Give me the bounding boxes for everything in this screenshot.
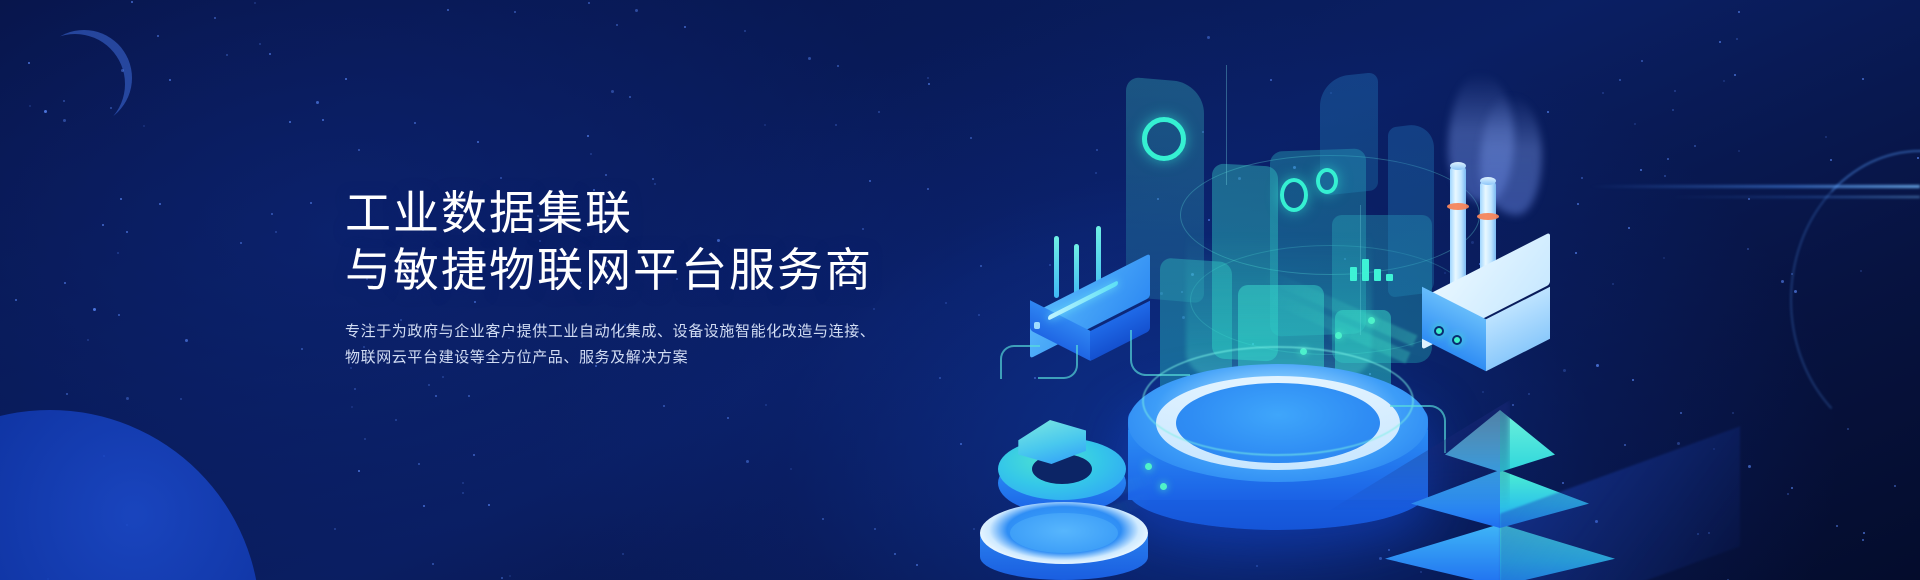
subcopy-line-1: 专注于为政府与企业客户提供工业自动化集成、设备设施智能化改造与连接、 bbox=[345, 319, 875, 345]
star bbox=[927, 188, 929, 190]
router-antenna-3 bbox=[1096, 226, 1101, 302]
holo-panel-7 bbox=[1332, 215, 1432, 363]
star bbox=[240, 242, 242, 244]
star bbox=[1157, 198, 1159, 200]
star bbox=[1863, 532, 1865, 534]
pyramid-tier-2-right bbox=[1500, 470, 1589, 528]
star bbox=[1748, 198, 1750, 200]
platform-halo bbox=[1142, 346, 1414, 456]
star bbox=[1340, 469, 1343, 472]
star bbox=[1264, 432, 1266, 434]
star bbox=[1444, 272, 1446, 274]
star bbox=[254, 2, 256, 4]
star bbox=[611, 90, 614, 93]
star bbox=[1632, 379, 1634, 381]
star bbox=[973, 528, 975, 530]
zigzag-wire-2 bbox=[1038, 345, 1078, 379]
star bbox=[1894, 485, 1896, 487]
star bbox=[1713, 448, 1715, 450]
star bbox=[1581, 177, 1583, 179]
star bbox=[1836, 525, 1838, 527]
smokestack-left bbox=[1450, 167, 1466, 301]
star bbox=[835, 124, 837, 126]
star bbox=[1748, 465, 1751, 468]
star bbox=[289, 121, 291, 123]
star bbox=[1862, 539, 1864, 541]
star bbox=[1825, 136, 1827, 138]
router-antenna-1 bbox=[1054, 236, 1059, 298]
data-beam-left-1 bbox=[993, 470, 1157, 539]
star bbox=[808, 57, 811, 60]
star bbox=[29, 105, 31, 107]
pyramid-tier-1-right bbox=[1500, 410, 1555, 472]
beam-dot-4 bbox=[1145, 463, 1152, 470]
star bbox=[605, 174, 607, 176]
holo-panel-2 bbox=[1160, 257, 1232, 427]
star bbox=[169, 79, 171, 81]
hero-banner: 工业数据集联 与敏捷物联网平台服务商 专注于为政府与企业客户提供工业自动化集成、… bbox=[0, 0, 1920, 580]
star bbox=[1694, 145, 1696, 147]
star bbox=[1663, 257, 1665, 259]
star bbox=[1202, 131, 1204, 133]
star bbox=[1049, 264, 1051, 266]
star bbox=[1482, 391, 1484, 393]
star bbox=[358, 470, 360, 472]
star bbox=[1734, 74, 1736, 76]
star bbox=[102, 224, 104, 226]
star bbox=[1612, 283, 1614, 285]
pad-inner bbox=[1010, 513, 1118, 553]
router-cable bbox=[1130, 330, 1190, 376]
platform-body bbox=[1128, 380, 1428, 530]
router-top-face bbox=[1030, 253, 1150, 358]
star bbox=[1261, 374, 1263, 376]
star bbox=[1095, 172, 1097, 174]
star bbox=[1344, 258, 1346, 260]
factory-box-left bbox=[1422, 287, 1486, 372]
star bbox=[1847, 428, 1849, 430]
star bbox=[1667, 158, 1669, 160]
star bbox=[790, 468, 792, 470]
beam-dot-6 bbox=[1070, 490, 1077, 497]
star bbox=[1512, 404, 1514, 406]
data-beam-factory-2 bbox=[1269, 292, 1411, 364]
platform-ring-inner bbox=[1176, 383, 1380, 463]
smokestack-right-cap bbox=[1480, 177, 1496, 185]
pyramid-tier-3-left bbox=[1385, 524, 1500, 580]
bar-chart-glyph bbox=[1350, 255, 1393, 281]
headline-line-2: 与敏捷物联网平台服务商 bbox=[345, 242, 875, 299]
star bbox=[1207, 36, 1210, 39]
star bbox=[869, 180, 871, 182]
star bbox=[1595, 520, 1598, 523]
donut-base bbox=[998, 452, 1126, 514]
star bbox=[927, 77, 929, 79]
router-antenna-2 bbox=[1074, 244, 1079, 300]
star bbox=[473, 454, 475, 456]
star bbox=[509, 575, 511, 577]
star bbox=[652, 178, 654, 180]
star bbox=[1719, 41, 1721, 43]
ring-icon-large bbox=[1142, 117, 1186, 161]
hero-copy: 工业数据集联 与敏捷物联网平台服务商 专注于为政府与企业客户提供工业自动化集成、… bbox=[345, 185, 875, 371]
smokestack-left-band bbox=[1447, 203, 1469, 210]
star bbox=[1369, 373, 1371, 375]
pyramid-floor-shadow bbox=[1330, 400, 1510, 510]
star bbox=[1528, 393, 1530, 395]
star bbox=[1238, 177, 1241, 180]
star bbox=[395, 419, 397, 421]
star bbox=[435, 395, 437, 397]
star bbox=[87, 339, 89, 341]
star-field bbox=[0, 0, 1920, 580]
star bbox=[1548, 247, 1550, 249]
star bbox=[214, 17, 216, 19]
holo-line-1 bbox=[1226, 65, 1227, 185]
smokestack-right-band bbox=[1477, 213, 1499, 220]
star bbox=[117, 252, 119, 254]
star bbox=[514, 11, 516, 13]
star bbox=[1641, 60, 1643, 62]
star bbox=[874, 528, 876, 530]
star bbox=[939, 377, 941, 379]
holo-panel-6 bbox=[1320, 72, 1378, 196]
star bbox=[590, 153, 592, 155]
star bbox=[322, 119, 324, 121]
star bbox=[684, 26, 686, 28]
router-front-face bbox=[1030, 300, 1092, 362]
star bbox=[878, 111, 880, 113]
star bbox=[1830, 159, 1832, 161]
star bbox=[1674, 90, 1676, 92]
star bbox=[462, 492, 464, 494]
star bbox=[1055, 565, 1057, 567]
star bbox=[1471, 241, 1474, 244]
star bbox=[358, 149, 360, 151]
layered-pyramid bbox=[1385, 398, 1615, 580]
smokestack-left-cap bbox=[1450, 162, 1466, 170]
star bbox=[44, 110, 47, 113]
factory-block bbox=[1400, 85, 1620, 365]
star bbox=[1791, 487, 1793, 489]
star bbox=[143, 125, 145, 127]
star bbox=[765, 404, 767, 406]
factory-box-right bbox=[1486, 287, 1550, 372]
star bbox=[1191, 273, 1194, 276]
star bbox=[1862, 78, 1864, 80]
donut-top bbox=[998, 438, 1126, 500]
hero-illustration bbox=[0, 0, 1920, 580]
star bbox=[980, 265, 982, 267]
star bbox=[588, 2, 590, 4]
star bbox=[945, 302, 947, 304]
holo-panel-5 bbox=[1270, 148, 1366, 336]
pyramid-tier-2-left bbox=[1411, 470, 1500, 528]
crescent-moon-icon bbox=[36, 30, 132, 126]
donut-hole bbox=[1032, 454, 1092, 484]
star bbox=[1141, 282, 1143, 284]
router-device bbox=[1020, 230, 1200, 360]
star bbox=[1207, 450, 1209, 452]
star bbox=[1577, 203, 1579, 205]
donut-slice bbox=[1014, 420, 1086, 464]
star bbox=[1529, 249, 1531, 251]
zigzag-wire-1 bbox=[1000, 345, 1040, 379]
star bbox=[1045, 459, 1047, 461]
star bbox=[1747, 248, 1749, 250]
star bbox=[118, 314, 120, 316]
star bbox=[1161, 457, 1163, 459]
smokestack-right bbox=[1480, 182, 1496, 310]
star bbox=[1596, 364, 1599, 367]
star bbox=[1252, 343, 1254, 345]
planet-arc bbox=[0, 410, 260, 580]
star bbox=[1181, 291, 1183, 293]
router-side-face bbox=[1090, 301, 1150, 362]
star bbox=[1697, 533, 1699, 535]
data-beam-factory bbox=[1262, 268, 1418, 346]
circular-pad bbox=[980, 498, 1148, 580]
platform-top bbox=[1128, 364, 1428, 482]
holo-ring-back bbox=[1180, 155, 1480, 275]
factory-box-top bbox=[1422, 232, 1550, 349]
star bbox=[1170, 397, 1172, 399]
star bbox=[131, 1, 133, 3]
star bbox=[310, 202, 312, 204]
star bbox=[442, 376, 444, 378]
star bbox=[1293, 166, 1296, 169]
star bbox=[1672, 109, 1674, 111]
star bbox=[1787, 493, 1789, 495]
star bbox=[364, 438, 366, 440]
subcopy-line-2: 物联网云平台建设等全方位产品、服务及解决方案 bbox=[345, 345, 875, 371]
star bbox=[746, 460, 749, 463]
factory-port-2 bbox=[1452, 335, 1462, 345]
star bbox=[477, 141, 479, 143]
smoke-plume-right bbox=[1480, 95, 1542, 215]
beam-dot-3 bbox=[1368, 317, 1375, 324]
star bbox=[180, 398, 182, 400]
star bbox=[1208, 219, 1210, 221]
star bbox=[1640, 169, 1642, 171]
star bbox=[1723, 80, 1725, 82]
star bbox=[1479, 263, 1481, 265]
smoke-plume-left bbox=[1448, 73, 1514, 203]
holo-line-2 bbox=[1360, 205, 1361, 335]
star bbox=[1547, 111, 1549, 113]
star bbox=[663, 405, 665, 407]
pad-body bbox=[980, 512, 1148, 580]
star bbox=[635, 9, 638, 12]
star bbox=[447, 9, 449, 11]
holo-panel-3 bbox=[1212, 163, 1278, 361]
ring-icon-small-right bbox=[1316, 168, 1338, 194]
holographic-data-cylinder bbox=[1120, 55, 1540, 385]
platform-side bbox=[1128, 430, 1428, 500]
beam-dot-2 bbox=[1335, 332, 1342, 339]
holo-panel-4 bbox=[1238, 285, 1324, 415]
pyramid-tier-1-left bbox=[1445, 410, 1500, 472]
star bbox=[1256, 565, 1258, 567]
pyramid-cable bbox=[1390, 405, 1446, 453]
star bbox=[423, 505, 425, 507]
star bbox=[432, 563, 434, 565]
donut-chart bbox=[998, 408, 1128, 548]
star bbox=[488, 504, 490, 506]
star bbox=[1634, 123, 1636, 125]
star bbox=[316, 101, 319, 104]
star bbox=[126, 231, 128, 233]
holo-panel-1 bbox=[1126, 77, 1204, 304]
star bbox=[185, 339, 188, 342]
star bbox=[15, 299, 17, 301]
star bbox=[1270, 79, 1272, 81]
star bbox=[1562, 482, 1564, 484]
star bbox=[894, 553, 896, 555]
star bbox=[271, 213, 273, 215]
data-beam-left-2 bbox=[998, 492, 1152, 558]
star bbox=[269, 53, 271, 55]
star bbox=[928, 83, 930, 85]
holo-panel-8 bbox=[1388, 122, 1434, 298]
star bbox=[1034, 377, 1036, 379]
star bbox=[629, 96, 631, 98]
ring-icon-small-left bbox=[1280, 178, 1308, 212]
star bbox=[622, 553, 624, 555]
star bbox=[1456, 337, 1458, 339]
star bbox=[418, 463, 420, 465]
star bbox=[414, 122, 416, 124]
pyramid-tier-3-right bbox=[1500, 524, 1615, 580]
star bbox=[1330, 92, 1332, 94]
beam-dot-1 bbox=[1300, 348, 1307, 355]
star bbox=[1619, 79, 1621, 81]
star bbox=[64, 282, 66, 284]
star bbox=[275, 231, 277, 233]
star bbox=[66, 393, 68, 395]
star bbox=[1738, 150, 1740, 152]
star bbox=[1708, 532, 1710, 534]
star bbox=[1220, 486, 1223, 489]
platform-light-beam bbox=[1186, 232, 1372, 392]
star bbox=[351, 406, 353, 408]
star bbox=[428, 384, 430, 386]
star bbox=[1602, 92, 1604, 94]
star bbox=[1420, 571, 1422, 573]
star bbox=[1677, 442, 1680, 445]
star bbox=[1664, 175, 1666, 177]
star bbox=[1732, 412, 1734, 414]
star bbox=[916, 564, 918, 566]
star bbox=[157, 35, 159, 37]
star bbox=[501, 577, 503, 579]
star bbox=[616, 24, 618, 26]
glow-arc bbox=[1790, 150, 1920, 450]
star bbox=[1628, 227, 1630, 229]
star bbox=[1575, 252, 1577, 254]
star bbox=[93, 308, 96, 311]
pad-top bbox=[980, 502, 1148, 564]
holo-panel-9 bbox=[1335, 310, 1391, 405]
router-port bbox=[1034, 322, 1040, 329]
star bbox=[822, 518, 824, 520]
factory-port-1 bbox=[1434, 326, 1444, 336]
star bbox=[1096, 149, 1098, 151]
star bbox=[1182, 316, 1185, 319]
star bbox=[259, 43, 261, 45]
star bbox=[978, 314, 980, 316]
star bbox=[28, 62, 30, 64]
star bbox=[126, 397, 129, 400]
star bbox=[727, 417, 729, 419]
router-led-strip bbox=[1048, 280, 1118, 321]
star bbox=[334, 528, 336, 530]
star bbox=[468, 395, 470, 397]
star bbox=[159, 203, 161, 205]
ground-plate bbox=[1500, 426, 1740, 580]
star bbox=[1160, 292, 1163, 295]
star bbox=[462, 482, 464, 484]
star bbox=[301, 348, 303, 350]
star bbox=[1781, 280, 1784, 283]
star bbox=[1738, 11, 1740, 13]
star bbox=[764, 124, 766, 126]
star bbox=[1624, 444, 1626, 446]
star bbox=[1736, 38, 1738, 40]
star bbox=[354, 388, 356, 390]
central-platform bbox=[1128, 352, 1428, 562]
headline-line-1: 工业数据集联 bbox=[345, 185, 875, 242]
star bbox=[970, 137, 972, 139]
star bbox=[1388, 549, 1390, 551]
star bbox=[960, 443, 962, 445]
star bbox=[587, 135, 589, 137]
star bbox=[345, 78, 347, 80]
star bbox=[1379, 557, 1382, 560]
star bbox=[1680, 412, 1682, 414]
beam-dot-7 bbox=[1040, 505, 1047, 512]
platform-ring-outer bbox=[1156, 376, 1400, 470]
star bbox=[1102, 286, 1105, 289]
star bbox=[120, 198, 122, 200]
star bbox=[226, 54, 228, 56]
beam-dot-5 bbox=[1160, 483, 1167, 490]
star bbox=[744, 30, 746, 32]
star bbox=[500, 177, 502, 179]
star bbox=[837, 65, 839, 67]
star bbox=[1563, 369, 1566, 372]
holo-ring-mid bbox=[1190, 245, 1470, 355]
